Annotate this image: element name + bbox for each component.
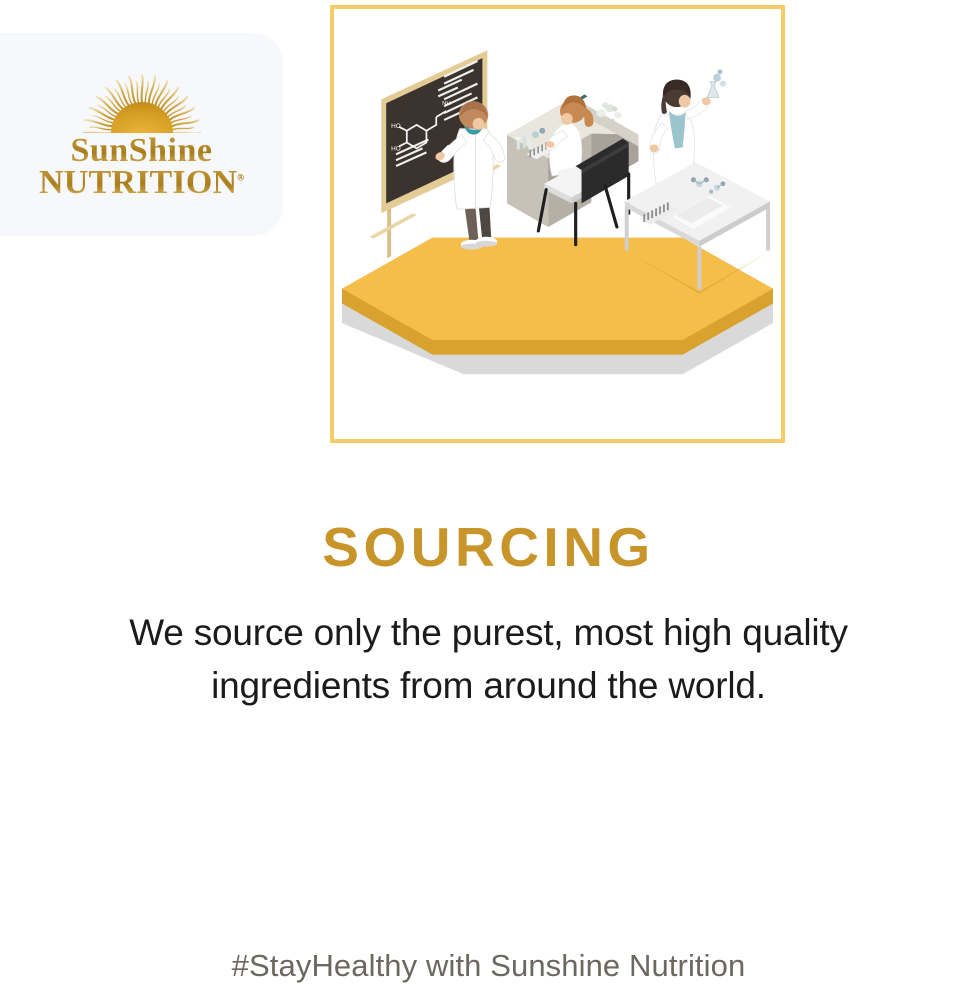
body-copy: We source only the purest, most high qua… [50,607,927,712]
laboratory-illustration: HO HO NH [334,9,781,439]
page-title: SOURCING [0,515,977,579]
floor-top [342,238,773,340]
table-top [625,162,770,241]
sunburst-icon [58,71,226,133]
brand-name-line2: NUTRITION® [39,167,244,199]
brand-wordmark: SunShine NUTRITION® [39,135,244,199]
trademark-symbol: ® [237,172,244,182]
chalk-label-ho-top: HO [391,123,401,130]
brand-name-line1: SunShine [39,135,244,167]
chalk-label-nh2: NH [442,101,451,107]
brand-logo-inner: SunShine NUTRITION® [0,33,283,236]
brand-logo-card: SunShine NUTRITION® [0,33,283,236]
chalkboard-leg-left [369,213,416,239]
chalk-label-ho-bottom: HO [391,145,401,152]
flask [707,69,726,97]
brand-name-line2-text: NUTRITION [39,164,237,201]
footer-tagline: #StayHealthy with Sunshine Nutrition [0,948,977,984]
illustration-frame: HO HO NH [330,5,785,443]
